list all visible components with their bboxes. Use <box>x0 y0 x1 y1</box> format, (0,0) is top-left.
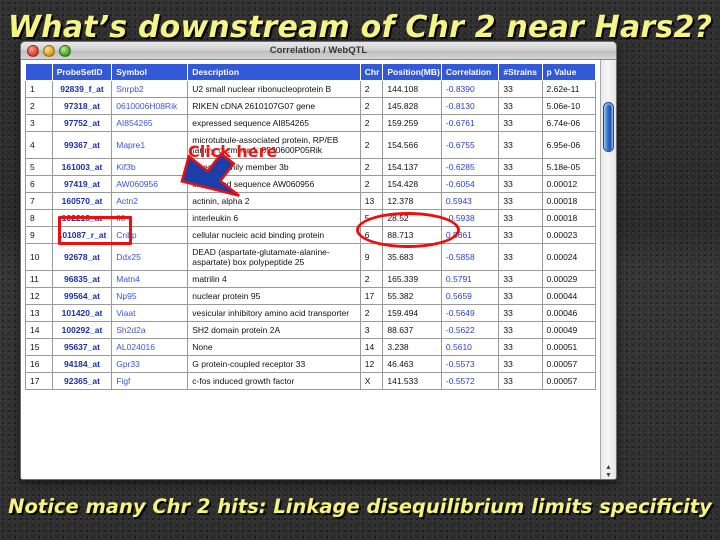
cell-probesetid[interactable]: 102218_at <box>52 210 112 227</box>
cell-probesetid[interactable]: 96835_at <box>52 271 112 288</box>
cell-chr: 2 <box>360 98 383 115</box>
cell-symbol[interactable]: Il6 <box>112 210 188 227</box>
table-row[interactable]: 9101087_r_atCnbpcellular nucleic acid bi… <box>26 227 596 244</box>
cell-description: matrilin 4 <box>188 271 361 288</box>
cell-strains: 33 <box>499 305 542 322</box>
cell-pvalue: 0.00046 <box>542 305 595 322</box>
cell-chr: X <box>360 373 383 390</box>
cell-correlation: -0.5622 <box>441 322 499 339</box>
cell-strains: 33 <box>499 176 542 193</box>
table-row[interactable]: 14100292_atSh2d2aSH2 domain protein 2A38… <box>26 322 596 339</box>
cell-pvalue: 0.00049 <box>542 322 595 339</box>
cell-position: 165.339 <box>383 271 442 288</box>
cell-chr: 2 <box>360 305 383 322</box>
cell-description: expressed sequence AW060956 <box>188 176 361 193</box>
cell-correlation: -0.5572 <box>441 373 499 390</box>
cell-correlation: 0.5791 <box>441 271 499 288</box>
cell-symbol[interactable]: AW060956 <box>112 176 188 193</box>
table-row[interactable]: 499367_atMapre1microtubule-associated pr… <box>26 132 596 159</box>
correlation-window[interactable]: Correlation / WebQTL ProbeSetID Symbol D… <box>20 41 617 480</box>
cell-correlation: 0.5610 <box>441 339 499 356</box>
cell-correlation: -0.6054 <box>441 176 499 193</box>
cell-index: 16 <box>26 356 53 373</box>
cell-symbol[interactable]: 0610006H08Rik <box>112 98 188 115</box>
scrollbar-thumb[interactable] <box>603 102 614 152</box>
table-row[interactable]: 1694184_atGpr33G protein-coupled recepto… <box>26 356 596 373</box>
cell-symbol[interactable]: Mapre1 <box>112 132 188 159</box>
cell-correlation: -0.8390 <box>441 81 499 98</box>
cell-symbol[interactable]: Gpr33 <box>112 356 188 373</box>
cell-probesetid[interactable]: 101420_at <box>52 305 112 322</box>
cell-index: 13 <box>26 305 53 322</box>
cell-probesetid[interactable]: 97752_at <box>52 115 112 132</box>
column-header-probesetid[interactable]: ProbeSetID <box>52 64 112 81</box>
cell-symbol[interactable]: Matn4 <box>112 271 188 288</box>
cell-pvalue: 0.00023 <box>542 227 595 244</box>
cell-description: interleukin 6 <box>188 210 361 227</box>
scroll-down-icon[interactable]: ▼ <box>605 472 612 479</box>
cell-index: 11 <box>26 271 53 288</box>
cell-position: 144.108 <box>383 81 442 98</box>
cell-symbol[interactable]: Snrpb2 <box>112 81 188 98</box>
cell-index: 7 <box>26 193 53 210</box>
cell-pvalue: 0.00057 <box>542 373 595 390</box>
table-row[interactable]: 192839_f_atSnrpb2U2 small nuclear ribonu… <box>26 81 596 98</box>
cell-strains: 33 <box>499 115 542 132</box>
cell-index: 3 <box>26 115 53 132</box>
window-content: ProbeSetID Symbol Description Chr Positi… <box>21 60 616 480</box>
cell-description: DEAD (aspartate-glutamate-alanine-aspart… <box>188 244 361 271</box>
cell-index: 9 <box>26 227 53 244</box>
column-header-symbol[interactable]: Symbol <box>112 64 188 81</box>
column-header-index[interactable] <box>26 64 53 81</box>
cell-strains: 33 <box>499 288 542 305</box>
cell-correlation: -0.5573 <box>441 356 499 373</box>
cell-index: 17 <box>26 373 53 390</box>
table-row[interactable]: 1299564_atNp95nuclear protein 951755.382… <box>26 288 596 305</box>
cell-symbol[interactable]: Figf <box>112 373 188 390</box>
cell-position: 88.637 <box>383 322 442 339</box>
cell-position: 154.566 <box>383 132 442 159</box>
cell-description: U2 small nuclear ribonucleoprotein B <box>188 81 361 98</box>
vertical-scrollbar[interactable]: ▲ ▼ <box>600 60 616 480</box>
cell-symbol[interactable]: Sh2d2a <box>112 322 188 339</box>
table-row[interactable]: 1196835_atMatn4matrilin 42165.3390.57913… <box>26 271 596 288</box>
cell-probesetid[interactable]: 101087_r_at <box>52 227 112 244</box>
column-header-chr[interactable]: Chr <box>360 64 383 81</box>
cell-symbol[interactable]: Cnbp <box>112 227 188 244</box>
correlation-results-table: ProbeSetID Symbol Description Chr Positi… <box>25 63 596 390</box>
cell-position: 154.137 <box>383 159 442 176</box>
cell-chr: 3 <box>360 322 383 339</box>
cell-position: 28.52 <box>383 210 442 227</box>
cell-position: 159.494 <box>383 305 442 322</box>
cell-probesetid[interactable]: 92678_at <box>52 244 112 271</box>
cell-strains: 33 <box>499 227 542 244</box>
cell-probesetid[interactable]: 99564_at <box>52 288 112 305</box>
cell-index: 6 <box>26 176 53 193</box>
cell-index: 15 <box>26 339 53 356</box>
column-header-pvalue[interactable]: p Value <box>542 64 595 81</box>
cell-symbol[interactable]: Np95 <box>112 288 188 305</box>
cell-position: 35.683 <box>383 244 442 271</box>
page-title: What’s downstream of Chr 2 near Hars2? <box>8 10 712 45</box>
cell-chr: 12 <box>360 356 383 373</box>
cell-position: 141.533 <box>383 373 442 390</box>
cell-pvalue: 0.00012 <box>542 176 595 193</box>
cell-chr: 5 <box>360 210 383 227</box>
cell-symbol[interactable]: Actn2 <box>112 193 188 210</box>
cell-strains: 33 <box>499 81 542 98</box>
cell-chr: 9 <box>360 244 383 271</box>
column-header-strains[interactable]: #Strains <box>499 64 542 81</box>
cell-chr: 2 <box>360 159 383 176</box>
cell-pvalue: 0.00051 <box>542 339 595 356</box>
cell-position: 88.713 <box>383 227 442 244</box>
cell-strains: 33 <box>499 339 542 356</box>
cell-probesetid[interactable]: 92839_f_at <box>52 81 112 98</box>
cell-position: 46.463 <box>383 356 442 373</box>
cell-index: 10 <box>26 244 53 271</box>
cell-chr: 2 <box>360 81 383 98</box>
cell-description: actinin, alpha 2 <box>188 193 361 210</box>
cell-strains: 33 <box>499 98 542 115</box>
scroll-up-icon[interactable]: ▲ <box>605 464 612 471</box>
cell-index: 14 <box>26 322 53 339</box>
cell-symbol[interactable]: AI854265 <box>112 115 188 132</box>
cell-correlation: -0.6755 <box>441 132 499 159</box>
table-row[interactable]: 5161003_atKif3bkinesin family member 3b2… <box>26 159 596 176</box>
cell-probesetid[interactable]: 95637_at <box>52 339 112 356</box>
cell-index: 8 <box>26 210 53 227</box>
cell-strains: 33 <box>499 210 542 227</box>
cell-chr: 2 <box>360 271 383 288</box>
cell-index: 2 <box>26 98 53 115</box>
cell-symbol[interactable]: Kif3b <box>112 159 188 176</box>
cell-correlation: -0.5938 <box>441 210 499 227</box>
cell-position: 154.428 <box>383 176 442 193</box>
cell-probesetid[interactable]: 160570_at <box>52 193 112 210</box>
cell-description: c-fos induced growth factor <box>188 373 361 390</box>
cell-symbol[interactable]: Viaat <box>112 305 188 322</box>
cell-index: 4 <box>26 132 53 159</box>
table-header-row: ProbeSetID Symbol Description Chr Positi… <box>26 64 596 81</box>
cell-probesetid[interactable]: 161003_at <box>52 159 112 176</box>
cell-pvalue: 5.06e-10 <box>542 98 595 115</box>
scrollbar-arrows[interactable]: ▲ ▼ <box>601 464 616 479</box>
cell-correlation: -0.6761 <box>441 115 499 132</box>
cell-position: 145.828 <box>383 98 442 115</box>
cell-pvalue: 0.00029 <box>542 271 595 288</box>
cell-correlation: -0.6285 <box>441 159 499 176</box>
cell-position: 3.238 <box>383 339 442 356</box>
table-row[interactable]: 397752_atAI854265expressed sequence AI85… <box>26 115 596 132</box>
cell-pvalue: 0.00024 <box>542 244 595 271</box>
results-table-area: ProbeSetID Symbol Description Chr Positi… <box>21 60 600 480</box>
cell-correlation: 0.5659 <box>441 288 499 305</box>
column-header-position[interactable]: Position(MB) <box>383 64 442 81</box>
cell-correlation: 0.5861 <box>441 227 499 244</box>
cell-pvalue: 0.00057 <box>542 356 595 373</box>
cell-description: None <box>188 339 361 356</box>
table-row[interactable]: 697419_atAW060956expressed sequence AW06… <box>26 176 596 193</box>
cell-pvalue: 0.00018 <box>542 210 595 227</box>
cell-probesetid[interactable]: 92365_at <box>52 373 112 390</box>
cell-pvalue: 5.18e-05 <box>542 159 595 176</box>
table-row[interactable]: 1595637_atAL024016None143.2380.5610330.0… <box>26 339 596 356</box>
cell-description: kinesin family member 3b <box>188 159 361 176</box>
cell-description: vesicular inhibitory amino acid transpor… <box>188 305 361 322</box>
cell-correlation: 0.5943 <box>441 193 499 210</box>
table-row[interactable]: 1092678_atDdx25DEAD (aspartate-glutamate… <box>26 244 596 271</box>
cell-strains: 33 <box>499 193 542 210</box>
cell-pvalue: 0.00018 <box>542 193 595 210</box>
cell-position: 55.382 <box>383 288 442 305</box>
column-header-correlation[interactable]: Correlation <box>441 64 499 81</box>
cell-strains: 33 <box>499 271 542 288</box>
table-body: 192839_f_atSnrpb2U2 small nuclear ribonu… <box>26 81 596 390</box>
table-row[interactable]: 297318_at0610006H08RikRIKEN cDNA 2610107… <box>26 98 596 115</box>
cell-strains: 33 <box>499 244 542 271</box>
cell-symbol[interactable]: AL024016 <box>112 339 188 356</box>
cell-position: 159.259 <box>383 115 442 132</box>
cell-correlation: -0.5649 <box>441 305 499 322</box>
table-row[interactable]: 13101420_atViaatvesicular inhibitory ami… <box>26 305 596 322</box>
cell-chr: 2 <box>360 176 383 193</box>
cell-chr: 14 <box>360 339 383 356</box>
cell-index: 1 <box>26 81 53 98</box>
cell-position: 12.378 <box>383 193 442 210</box>
cell-description: G protein-coupled receptor 33 <box>188 356 361 373</box>
cell-description: RIKEN cDNA 2610107G07 gene <box>188 98 361 115</box>
cell-symbol[interactable]: Ddx25 <box>112 244 188 271</box>
cell-description: SH2 domain protein 2A <box>188 322 361 339</box>
cell-pvalue: 0.00044 <box>542 288 595 305</box>
cell-correlation: -0.8130 <box>441 98 499 115</box>
cell-strains: 33 <box>499 373 542 390</box>
cell-description: nuclear protein 95 <box>188 288 361 305</box>
cell-probesetid[interactable]: 94184_at <box>52 356 112 373</box>
cell-index: 12 <box>26 288 53 305</box>
cell-description: expressed sequence AI854265 <box>188 115 361 132</box>
cell-chr: 2 <box>360 132 383 159</box>
column-header-description[interactable]: Description <box>188 64 361 81</box>
table-row[interactable]: 1792365_atFigfc-fos induced growth facto… <box>26 373 596 390</box>
slide-caption-band: Notice many Chr 2 hits: Linkage disequil… <box>0 495 720 518</box>
cell-description: cellular nucleic acid binding protein <box>188 227 361 244</box>
cell-chr: 13 <box>360 193 383 210</box>
cell-pvalue: 6.95e-06 <box>542 132 595 159</box>
cell-strains: 33 <box>499 159 542 176</box>
table-row[interactable]: 8102218_atIl6interleukin 6528.52-0.59383… <box>26 210 596 227</box>
cell-chr: 17 <box>360 288 383 305</box>
cell-pvalue: 6.74e-06 <box>542 115 595 132</box>
table-row[interactable]: 7160570_atActn2actinin, alpha 21312.3780… <box>26 193 596 210</box>
slide-title-band: What’s downstream of Chr 2 near Hars2? <box>0 6 720 48</box>
cell-index: 5 <box>26 159 53 176</box>
cell-probesetid[interactable]: 100292_at <box>52 322 112 339</box>
cell-correlation: -0.5858 <box>441 244 499 271</box>
cell-chr: 2 <box>360 115 383 132</box>
cell-pvalue: 2.62e-11 <box>542 81 595 98</box>
cell-chr: 6 <box>360 227 383 244</box>
slide-caption: Notice many Chr 2 hits: Linkage disequil… <box>8 495 712 518</box>
cell-strains: 33 <box>499 132 542 159</box>
cell-probesetid[interactable]: 97419_at <box>52 176 112 193</box>
cell-probesetid[interactable]: 97318_at <box>52 98 112 115</box>
cell-description: microtubule-associated protein, RP/EB fa… <box>188 132 361 159</box>
cell-strains: 33 <box>499 322 542 339</box>
cell-probesetid[interactable]: 99367_at <box>52 132 112 159</box>
cell-strains: 33 <box>499 356 542 373</box>
